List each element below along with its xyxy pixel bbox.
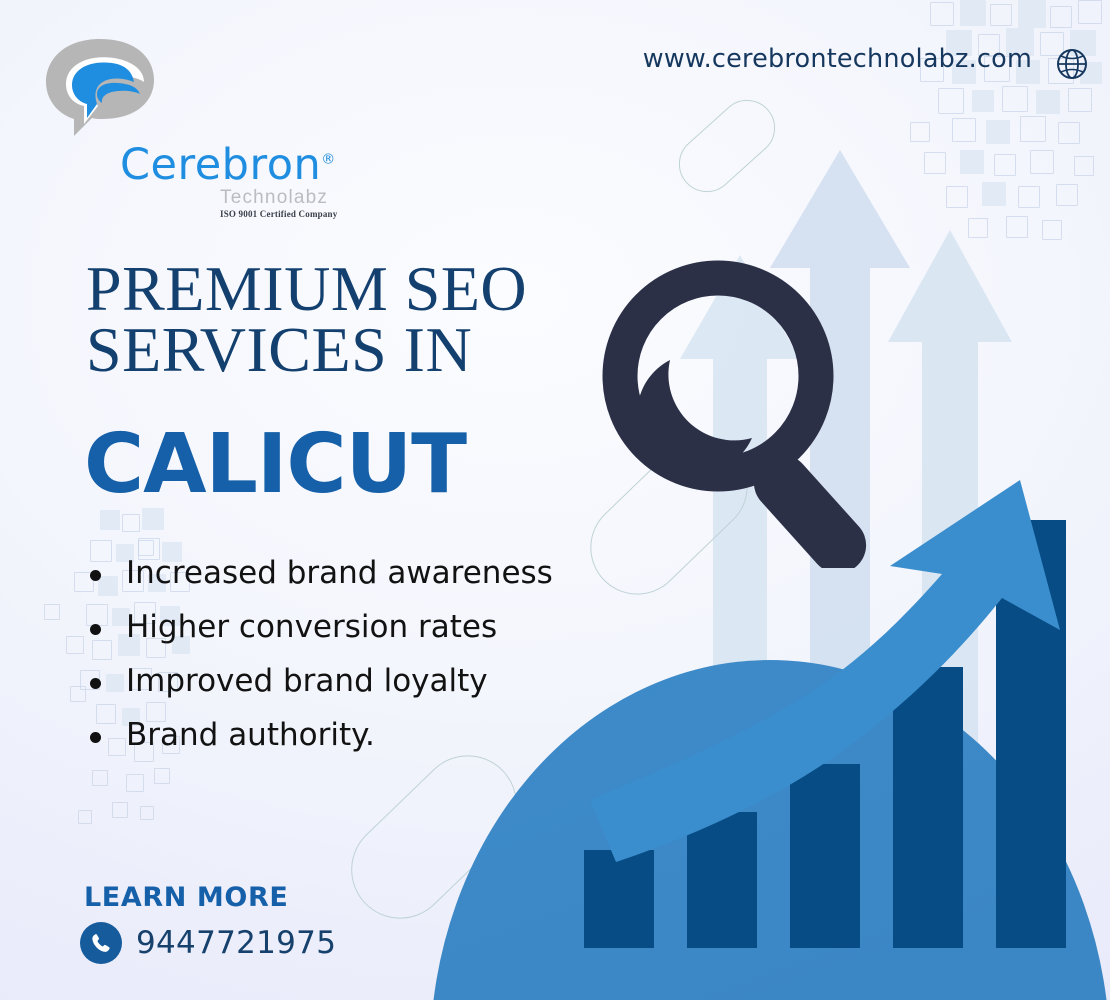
logo-sub-name: Technolabz [220,188,328,207]
list-item: Increased brand awareness [82,558,602,589]
seo-services-poster: Cerebron® Technolabz ISO 9001 Certified … [0,0,1110,1000]
headline-line-2: SERVICES IN [86,319,606,380]
headline-line-1: PREMIUM SEO [86,253,527,324]
learn-more-label[interactable]: LEARN MORE [84,884,288,911]
phone-number[interactable]: 9447721975 [136,928,336,959]
logo-certification: ISO 9001 Certified Company [220,210,337,219]
globe-icon [1056,48,1088,80]
brain-speech-bubble-icon [40,36,160,141]
brand-logo: Cerebron® Technolabz ISO 9001 Certified … [40,36,330,186]
registered-mark: ® [321,152,336,168]
logo-wordmark: Cerebron® [120,144,336,187]
phone-icon [80,922,122,964]
page-title: PREMIUM SEO SERVICES IN [86,258,606,381]
capsule-outline-top [667,88,786,203]
website-url[interactable]: www.cerebrontechnolabz.com [643,44,1032,74]
phone-contact[interactable]: 9447721975 [80,922,336,964]
magnifying-glass-icon [600,258,900,568]
headline-city: CALICUT [84,424,466,506]
list-item: Higher conversion rates [82,612,602,643]
